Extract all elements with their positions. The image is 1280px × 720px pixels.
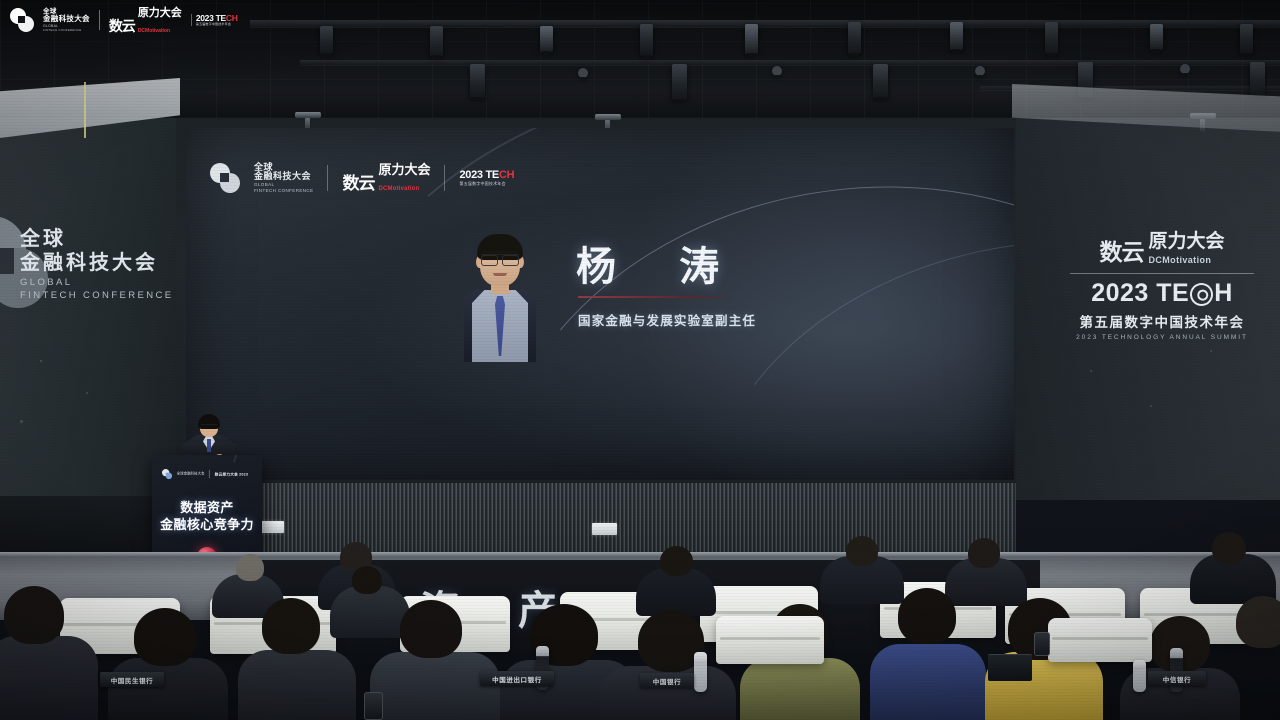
audience-sofa [716,616,824,664]
podium-logo-divider [209,470,210,478]
audience-member-head [660,546,693,576]
lighting-truss-upper [250,20,1280,27]
left-wall-branding: 全球 金融科技大会 GLOBAL FINTECH CONFERENCE [20,228,174,302]
audience-member-head [134,608,196,666]
global-fintech-conference-mark-icon [210,163,240,193]
at-swirl-icon [1187,280,1216,309]
bug-dcmotivation-wordmark: 数云 原力大会 DCMotivation [109,4,182,36]
speaker-title: 国家金融与发展实验室副主任 [578,310,756,329]
right-wall-dcm-en: DCMotivation [1148,255,1211,265]
stage-lamp-lower [873,64,888,98]
gfc-cn-line2: 金融科技大会 [254,172,313,182]
audience-member [740,658,860,720]
right-wall-divider [1070,273,1254,274]
stage-lamp [950,22,963,50]
audience-member-head [1236,596,1280,648]
bug-dcm-cn: 原力大会 [138,7,182,19]
audience-member-head [4,586,64,644]
audience-member-head [262,598,320,654]
right-wall-shu: 数云 [1099,233,1143,267]
main-led-screen: 全球 金融科技大会 GLOBAL FINTECH CONFERENCE 数云 原… [186,128,1014,480]
left-wall-en-line1: GLOBAL [20,277,174,288]
wall-speckle [20,420,23,423]
right-wall-tech-pre: 2023 TE [1091,279,1189,308]
bug-gfc-en2: FINTECH CONFERENCE [43,29,90,32]
podium-gfc-mark-icon [162,469,172,479]
dcm-cn-text: 原力大会 [378,162,430,177]
audience-member-head [352,566,382,594]
audience-member [108,658,228,720]
gfc-wordmark: 全球 金融科技大会 GLOBAL FINTECH CONFERENCE [254,163,313,194]
bug-tech-year: 2023 TECH 第五届数字中国技术年会 [191,14,238,26]
wall-speckle [86,392,88,394]
stage-lamp [430,26,443,56]
presenter-glasses-icon [201,424,217,429]
led-logo-row: 全球 金融科技大会 GLOBAL FINTECH CONFERENCE 数云 原… [210,162,514,194]
broadcast-logo-bug: 全球 金融科技大会 GLOBAL FINTECH CONFERENCE 数云 原… [10,7,238,33]
podium-title: 数据资产 金融核心竞争力 [152,499,262,533]
audience-member-head [898,588,956,644]
audience-member [1220,644,1280,720]
bug-year-sub: 第五届数字中国技术年会 [196,23,238,26]
wall-sign [259,521,284,533]
table-placard: 中国民生银行 [100,672,164,687]
audience-member-head [236,554,264,581]
stage-lamp-lower [975,66,985,76]
table-placard: 中信银行 [1148,671,1206,686]
speaker-name: 杨 涛 [576,234,745,292]
dcmotivation-wordmark: 数云 原力大会 DCMotivation [342,162,430,194]
bug-dcm-en: DCMotivation [138,28,170,34]
table-placard: 中国进出口银行 [480,671,554,686]
logo-divider [444,165,445,191]
gfc-en-line1: GLOBAL [254,183,313,188]
stage-lamp-lower [470,64,485,98]
dcm-en-text: DCMotivation [378,186,419,192]
global-fintech-conference-mark-icon [10,8,34,32]
table-placard: 中国银行 [640,673,694,688]
stage-lamp [1150,24,1163,50]
podium-logo-dcm: 数云原力大会 2023 [215,471,248,477]
podium-logo-row: 全球金融科技大会 数云原力大会 2023 [162,469,248,479]
wall-speckle [1210,350,1212,352]
left-wall-cn-line2: 金融科技大会 [20,252,174,276]
glasses-icon [481,254,519,265]
audience-sofa [1048,618,1152,662]
tech-year-sub: 第五届数字中国技术年会 [459,182,514,186]
ceiling-fixture [595,114,621,120]
wall-speckle [40,360,42,362]
audience-area: 中国民生银行 中国进出口银行 中国银行 中信银行 [0,540,1280,720]
stage-lamp [1240,24,1253,54]
left-wall-cn-line1: 全球 [20,228,174,252]
laptop[interactable] [988,654,1032,681]
stage-lamp [848,22,861,54]
speaker-portrait [464,234,536,362]
right-wall-cn-summit: 第五届数字中国技术年会 [1062,311,1262,331]
stage-lamp [320,26,333,54]
bug-divider [99,10,100,30]
stage-lamp-lower [772,66,782,76]
stage-lamp [745,24,758,54]
audience-member [870,644,986,720]
dcm-shu-text: 数云 [342,169,374,194]
logo-divider [327,165,328,191]
audience-member-head [968,538,1000,568]
audience-member [238,650,356,720]
podium-logo-cn: 全球金融科技大会 [177,472,205,476]
tech-year-main: 2023 TE [459,169,498,181]
left-wall-en-line2: FINTECH CONFERENCE [20,290,174,301]
right-wall-branding: 数云 原力大会 DCMotivation 2023 TE H 第五届数字中国技术… [1062,232,1262,341]
right-wall-en-summit: 2023 TECHNOLOGY ANNUAL SUMMIT [1062,334,1262,341]
smartphone[interactable] [1034,632,1050,656]
audience-member [370,652,500,720]
audience-member-head [400,600,462,658]
right-wall-dcm-cn: 原力大会 [1148,231,1224,252]
stage-lamp-lower [578,68,588,78]
stage-lamp [1045,22,1058,54]
wall-speckle [1090,370,1092,372]
right-wall-tech-post: H [1214,279,1233,308]
microphone-icon [233,455,241,463]
speaker-name-rule [578,296,738,298]
podium-title-line1: 数据资产 [152,499,262,516]
slab-accent-line [84,82,86,138]
audience-member-head [846,536,878,566]
tech-year-block: 2023 TECH 第五届数字中国技术年会 [459,170,514,186]
water-bottle[interactable] [694,652,707,692]
conference-broadcast-frame: 全球 金融科技大会 GLOBAL FINTECH CONFERENCE 数云 原… [0,0,1280,720]
lighting-truss-lower [300,60,1280,65]
smartphone[interactable] [364,692,383,720]
bug-gfc-cn2: 金融科技大会 [43,15,90,23]
tech-year-mark: CH [499,169,514,181]
wall-sign [592,523,617,535]
stage-lamp-lower [1180,64,1190,74]
audience-member-head [1212,532,1246,564]
audience-member [0,636,98,720]
stage-lamp [540,26,553,52]
stage-lamp [640,24,653,56]
bug-gfc-wordmark: 全球 金融科技大会 GLOBAL FINTECH CONFERENCE [43,8,90,32]
bug-dcm-shu: 数云 [109,16,135,36]
stage-lamp-lower [1250,62,1265,96]
ceiling-fixture [295,112,321,118]
stage-lamp-lower [672,64,687,100]
wall-speckle [1150,405,1152,407]
water-bottle[interactable] [1133,660,1146,692]
podium-title-line2: 金融核心竞争力 [152,516,262,533]
gfc-en-line2: FINTECH CONFERENCE [254,189,313,194]
